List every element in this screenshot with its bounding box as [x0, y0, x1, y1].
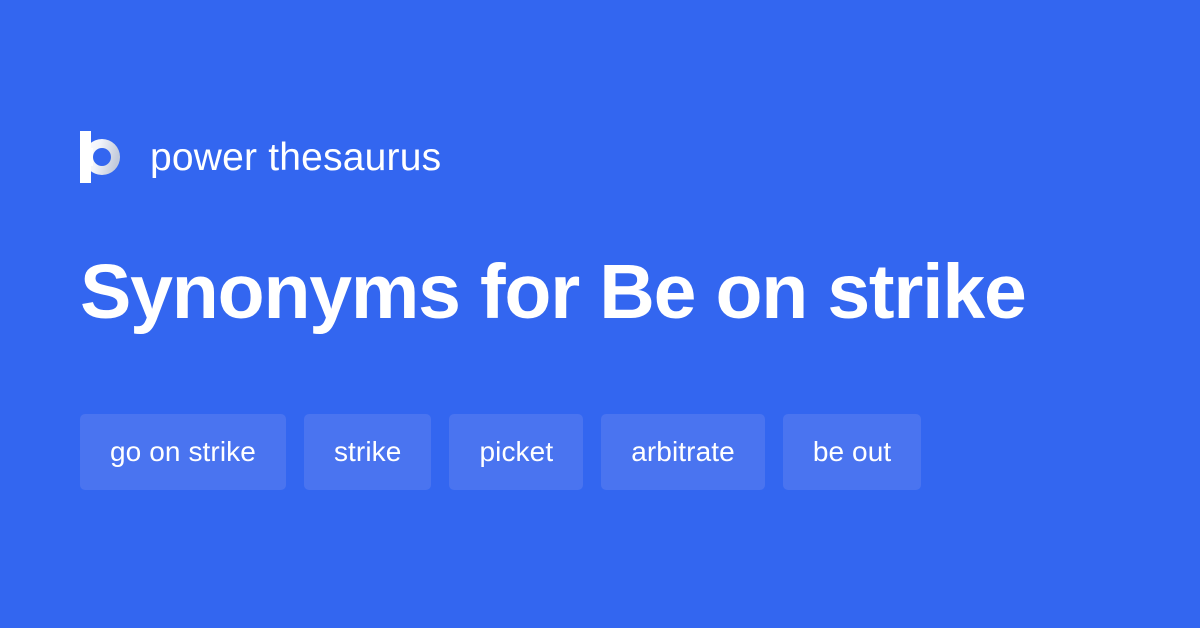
brand-name: power thesaurus: [150, 138, 441, 177]
share-card: power thesaurus Synonyms for Be on strik…: [0, 0, 1200, 628]
synonym-tag[interactable]: be out: [783, 414, 921, 490]
synonym-tag-list: go on strike strike picket arbitrate be …: [80, 414, 921, 490]
synonym-tag[interactable]: picket: [449, 414, 583, 490]
page-title: Synonyms for Be on strike: [80, 252, 1140, 333]
synonym-tag[interactable]: strike: [304, 414, 432, 490]
power-thesaurus-b-logo-icon: [80, 131, 126, 183]
synonym-tag[interactable]: arbitrate: [601, 414, 765, 490]
synonym-tag[interactable]: go on strike: [80, 414, 286, 490]
brand-lockup[interactable]: power thesaurus: [80, 128, 441, 186]
